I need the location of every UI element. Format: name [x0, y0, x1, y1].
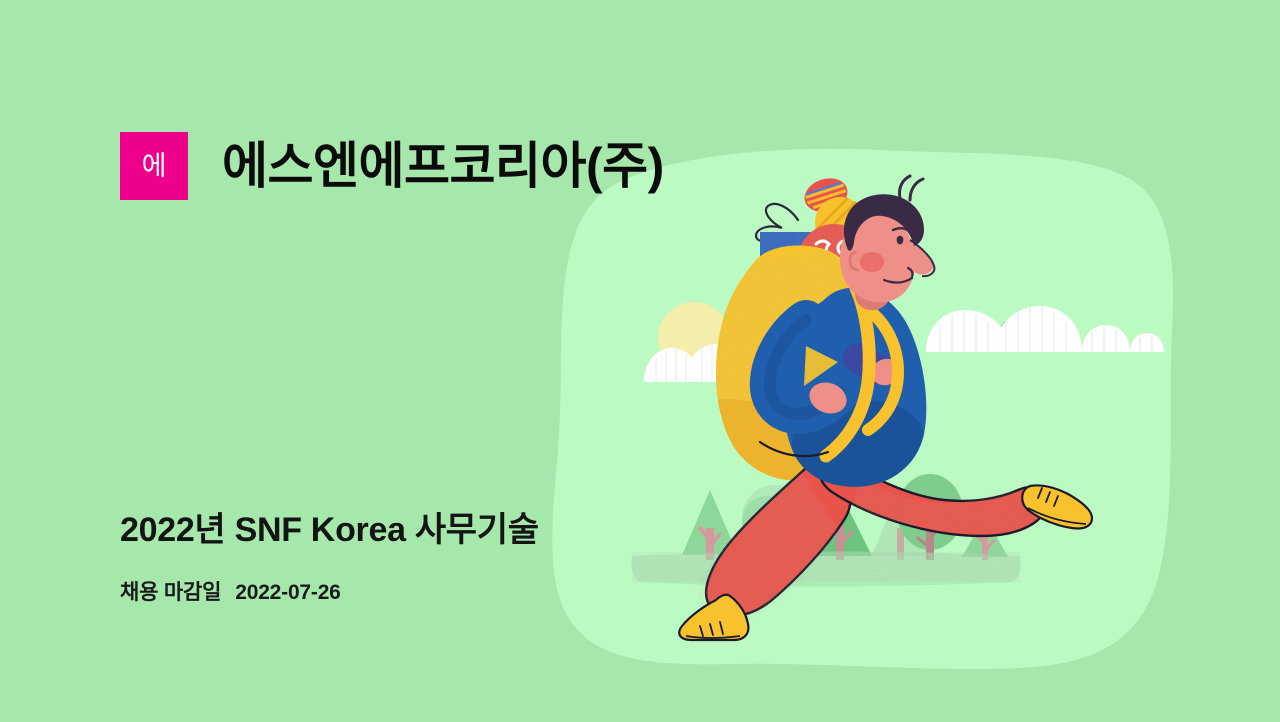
runner-head — [840, 176, 934, 310]
ground-strip — [631, 552, 1022, 587]
yellow-sack — [700, 240, 900, 500]
runner-arm — [770, 320, 905, 419]
shoulder-strap — [760, 288, 898, 456]
gift-box-blue — [756, 204, 838, 300]
runner-figure — [679, 176, 1092, 640]
company-logo-glyph: 에 — [142, 153, 167, 180]
tree-cone-4 — [872, 486, 928, 560]
sun-shape — [655, 300, 735, 380]
runner-front-shoe — [1022, 485, 1092, 528]
runner-torso — [783, 288, 926, 487]
company-logo: 에 — [120, 132, 188, 200]
ball-yellow-striped — [815, 197, 866, 248]
tree-cone-1 — [682, 490, 738, 560]
deadline-row: 채용 마감일 2022-07-26 — [120, 576, 341, 606]
company-header: 에 에스엔에프코리아(주) — [120, 131, 664, 201]
tree-backdrop-round — [742, 485, 808, 551]
tree-round-2 — [742, 496, 792, 560]
deadline-value: 2022-07-26 — [235, 581, 340, 605]
deadline-label: 채용 마감일 — [120, 576, 221, 606]
tree-cone-3 — [808, 492, 872, 560]
ball-red-patterned — [795, 222, 875, 302]
tree-backdrop-cone — [784, 470, 840, 548]
runner-back-shoe — [679, 595, 748, 640]
runner-front-leg — [819, 450, 1092, 550]
job-posting-banner: 에 에스엔에프코리아(주) 2022년 SNF Korea 사무기술 채용 마감… — [0, 0, 1280, 722]
company-name: 에스엔에프코리아(주) — [222, 141, 664, 191]
ball-small-striped — [800, 173, 852, 217]
tree-cone-6 — [962, 516, 1008, 560]
left-bush — [644, 344, 778, 382]
ball-peach-striped — [844, 243, 900, 297]
job-title: 2022년 SNF Korea 사무기술 — [120, 510, 539, 551]
background-fill — [0, 0, 1280, 722]
running-delivery-illustration — [0, 0, 1280, 722]
runner-back-leg — [679, 459, 870, 640]
right-cloud — [926, 306, 1164, 352]
tree-round-5 — [897, 474, 963, 560]
tree-row — [631, 470, 1022, 587]
light-green-blob — [552, 149, 1173, 669]
